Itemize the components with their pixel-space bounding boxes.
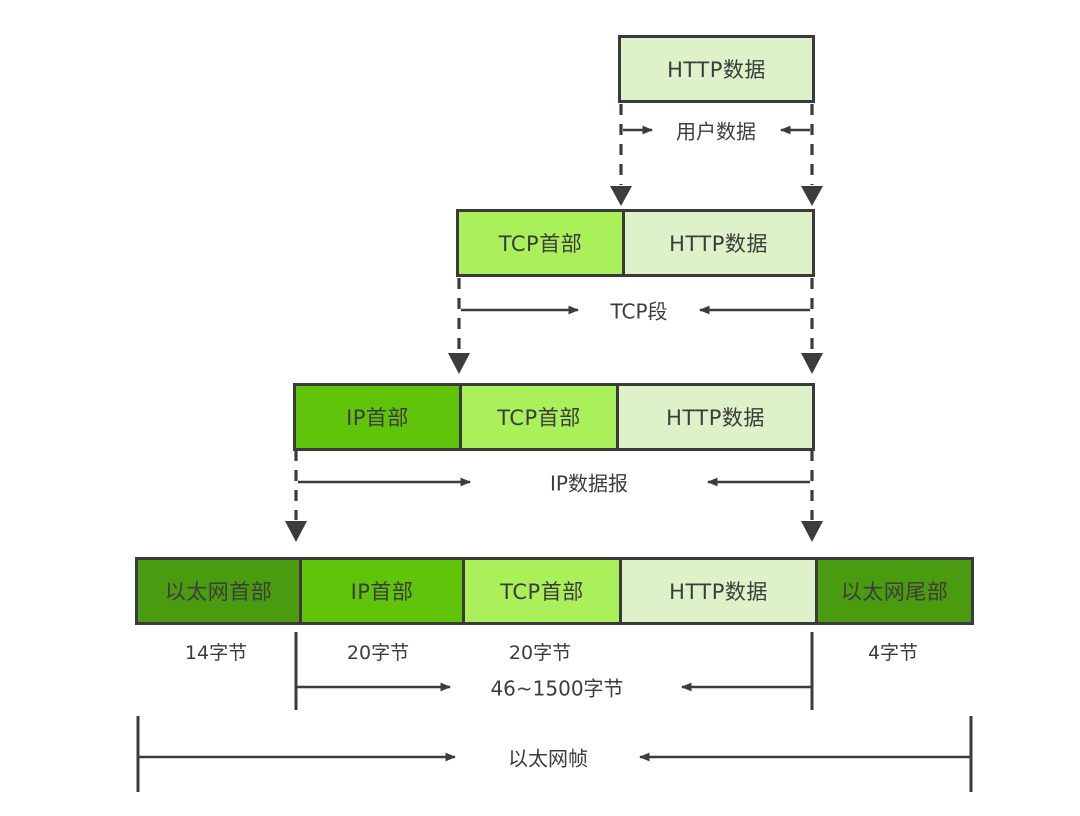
cell-ethernet-header: 以太网首部 [138,560,302,622]
cell-http-data: HTTP数据 [621,38,812,100]
byte-label-ip-header: 20字节 [347,638,409,665]
cell-label: TCP首部 [499,228,582,258]
cell-label: TCP首部 [497,402,580,432]
row-application-layer: HTTP数据 [618,35,815,103]
byte-label-tcp-header: 20字节 [509,638,571,665]
cell-tcp-header: TCP首部 [459,212,625,274]
cell-label: HTTP数据 [669,576,768,606]
row-link-layer: 以太网首部 IP首部 TCP首部 HTTP数据 以太网尾部 [135,557,974,625]
cell-label: HTTP数据 [669,228,768,258]
dropper-arrow-left [610,186,632,206]
byte-label-ethernet-header: 14字节 [185,638,247,665]
dropper-arrow-right [801,186,823,206]
dropper-arrow-left [285,521,307,542]
cell-label: IP首部 [351,576,414,606]
cell-label: 以太网尾部 [841,576,949,606]
cell-ip-header: IP首部 [296,386,462,448]
cell-http-data: HTTP数据 [622,560,818,622]
span-label-user-data: 用户数据 [669,116,763,145]
dropper-arrow-right [801,521,823,542]
row-network-layer: IP首部 TCP首部 HTTP数据 [293,383,815,451]
row-transport-layer: TCP首部 HTTP数据 [456,209,815,277]
byte-label-ethernet-trailer: 4字节 [868,638,918,665]
cell-tcp-header: TCP首部 [465,560,622,622]
span-label-payload-bytes: 46~1500字节 [483,673,630,702]
span-label-tcp-segment: TCP段 [603,296,674,325]
cell-label: TCP首部 [500,576,583,606]
cell-label: HTTP数据 [667,54,766,84]
dropper-arrow-left [448,353,470,374]
cell-http-data: HTTP数据 [619,386,812,448]
encapsulation-diagram: HTTP数据 用户数据 TCP首部 HTTP数据 TCP段 IP首部 TCP首部… [0,0,1080,816]
cell-label: 以太网首部 [165,576,273,606]
span-label-ip-datagram: IP数据报 [543,468,635,497]
cell-label: HTTP数据 [666,402,765,432]
cell-http-data: HTTP数据 [625,212,812,274]
cell-label: IP首部 [346,402,409,432]
cell-ethernet-trailer: 以太网尾部 [818,560,971,622]
dropper-arrow-right [801,353,823,374]
cell-tcp-header: TCP首部 [462,386,619,448]
span-label-ethernet-frame: 以太网帧 [501,743,595,772]
cell-ip-header: IP首部 [302,560,465,622]
